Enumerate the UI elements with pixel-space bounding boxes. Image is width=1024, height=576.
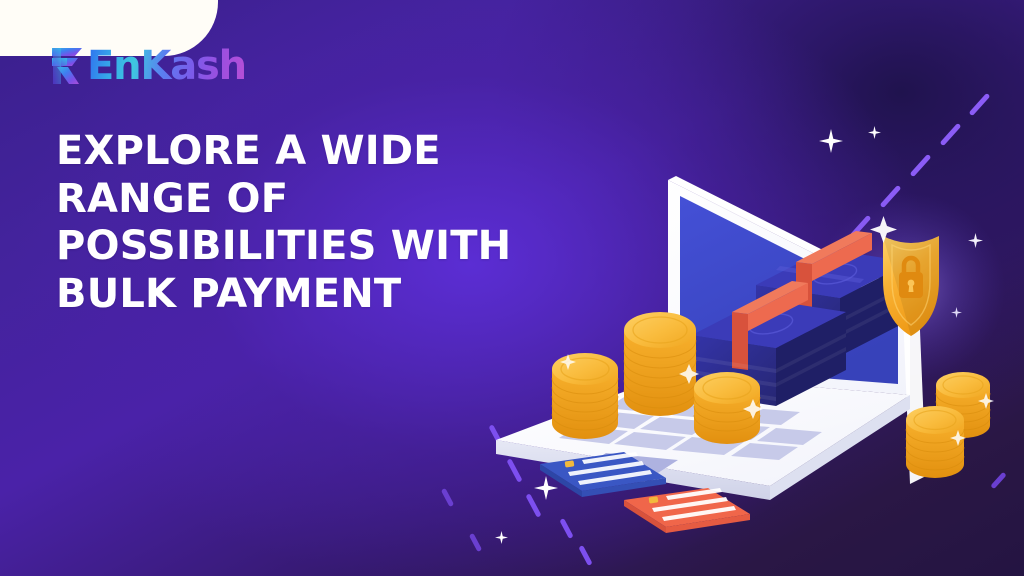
- headline-title: Explore a wide range of possibilities wi…: [56, 128, 586, 318]
- credit-card-orange: [624, 488, 750, 533]
- coin-stack-short: [694, 372, 763, 444]
- brand-name: EnKash: [87, 46, 246, 86]
- coin-stack-right-front: [906, 406, 966, 478]
- promotional-banner: EnKash Explore a wide range of possibili…: [0, 0, 1024, 576]
- coin-stack-tall: [624, 312, 699, 416]
- brand-logo[interactable]: EnKash: [48, 44, 246, 88]
- enkash-rupee-mark-icon: [48, 46, 86, 86]
- coin-stack-medium: [552, 353, 618, 439]
- dash-mark: [969, 93, 991, 116]
